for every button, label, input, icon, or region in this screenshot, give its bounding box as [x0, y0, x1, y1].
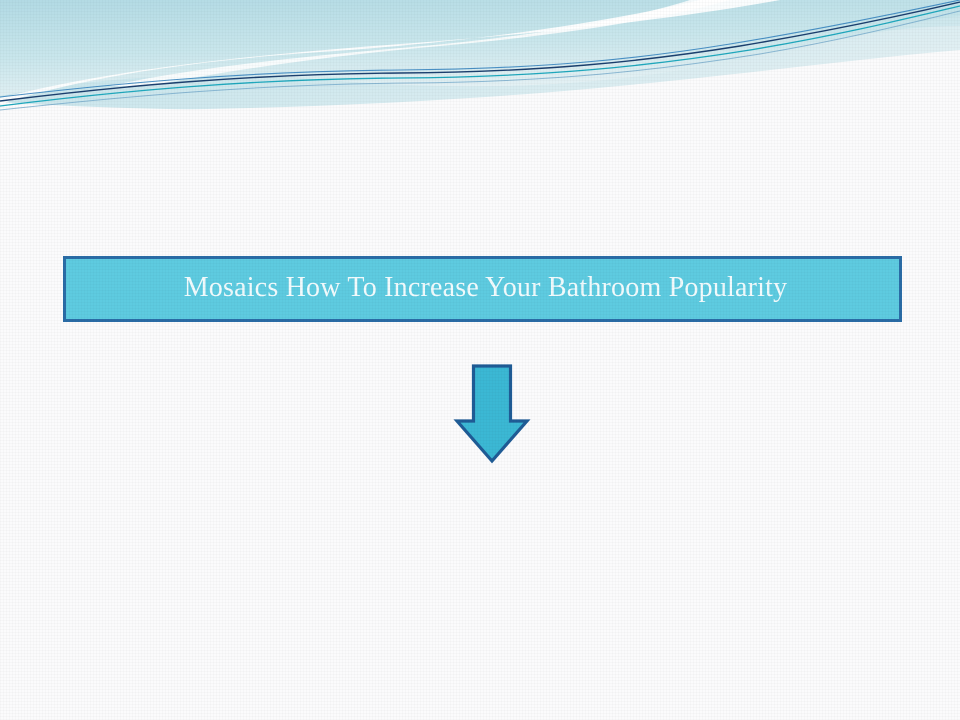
decorative-wave-banner — [0, 0, 960, 120]
title-banner: Mosaics How To Increase Your Bathroom Po… — [63, 256, 902, 322]
down-arrow-icon — [452, 362, 532, 466]
down-arrow-shape — [457, 366, 527, 461]
page-title: Mosaics How To Increase Your Bathroom Po… — [66, 274, 899, 304]
presentation-slide: Mosaics How To Increase Your Bathroom Po… — [0, 0, 960, 720]
